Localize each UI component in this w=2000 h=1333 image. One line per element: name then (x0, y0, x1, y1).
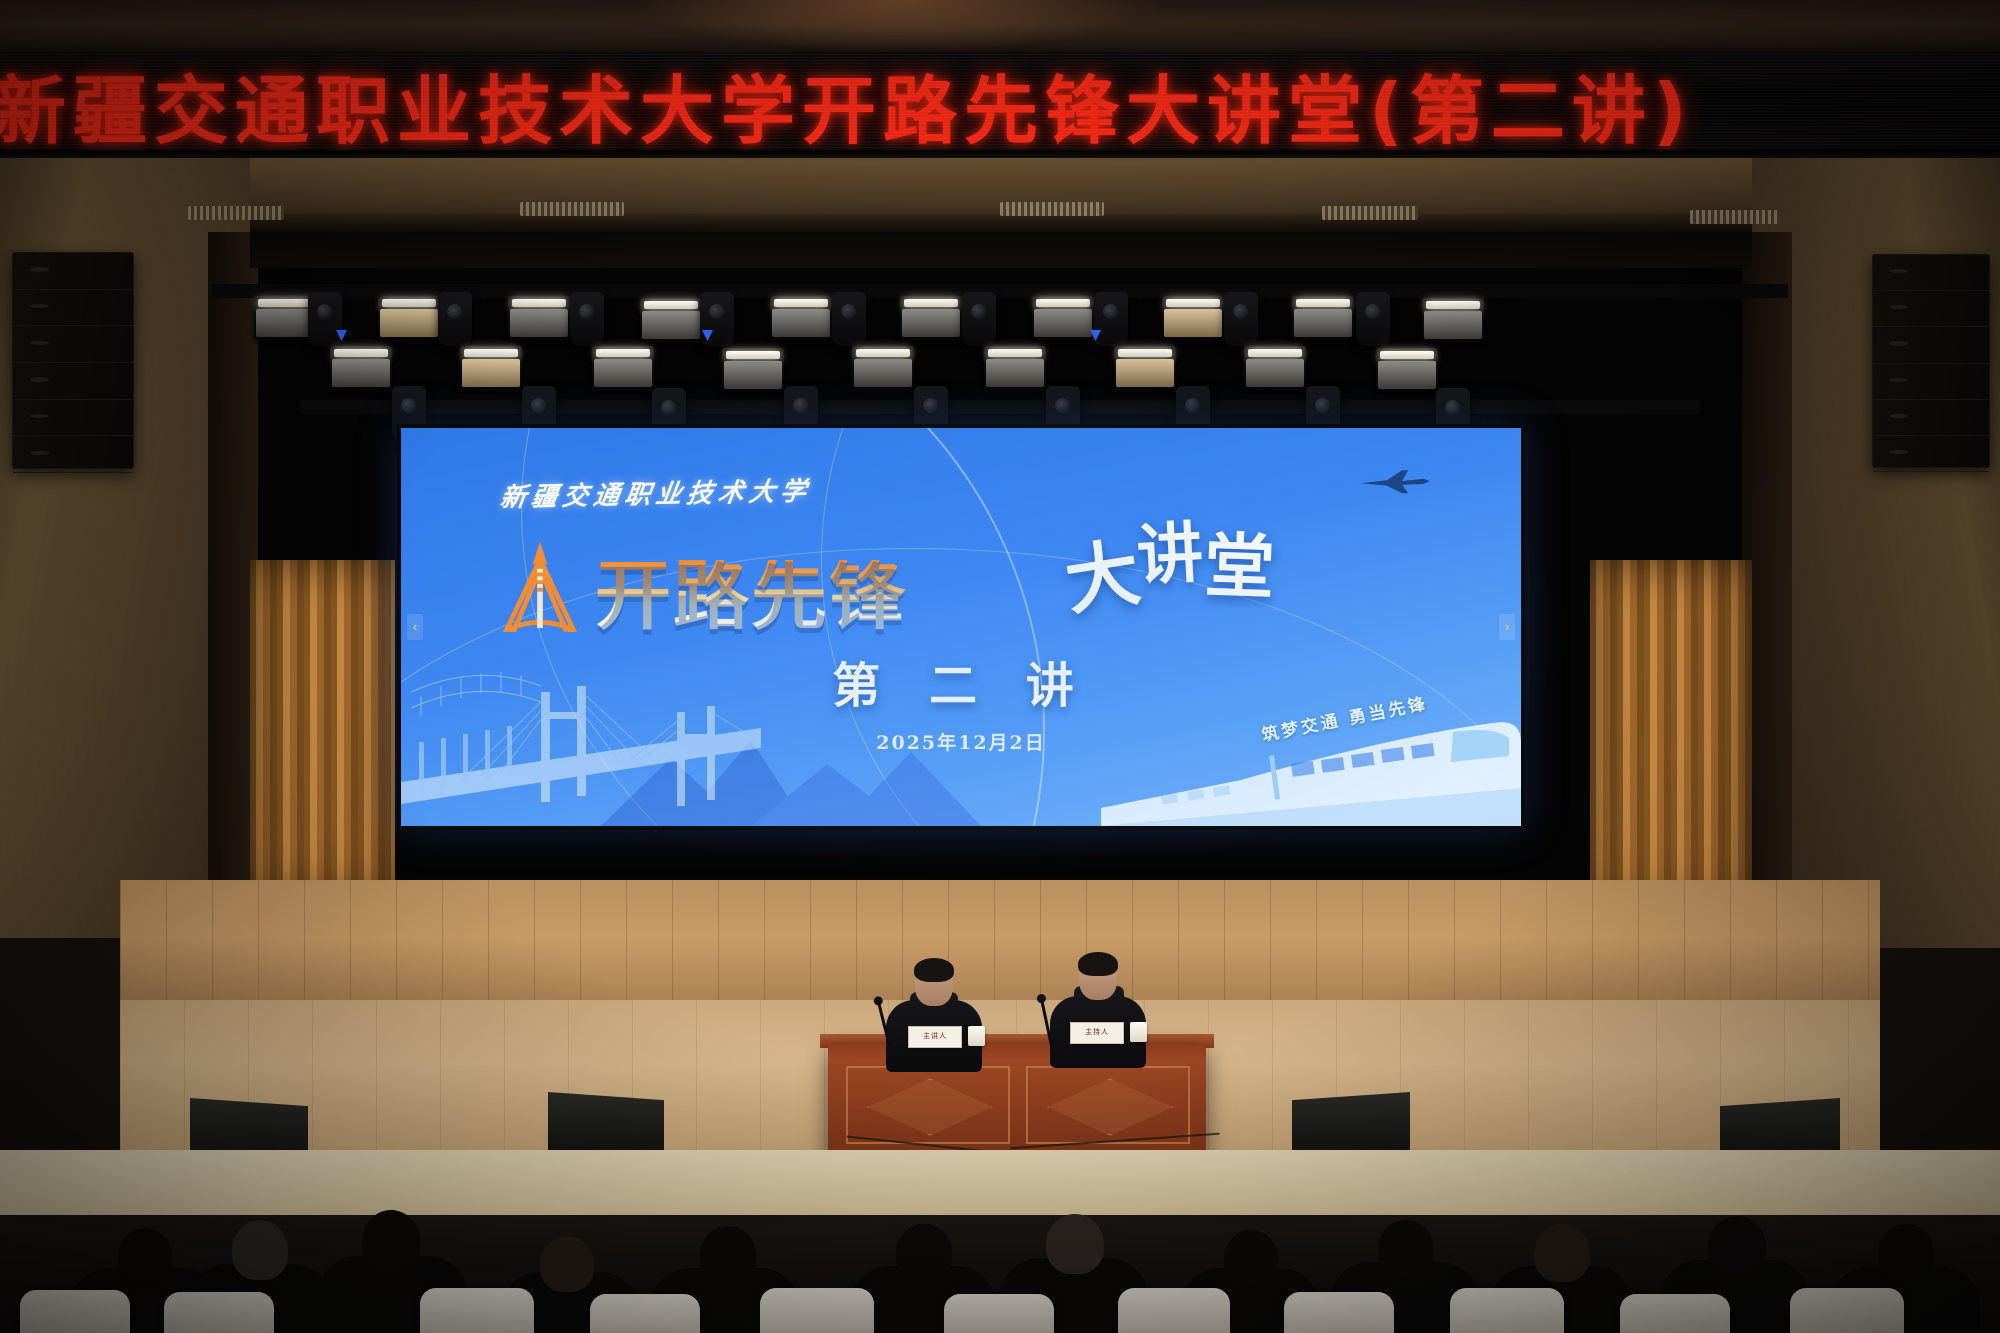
stage-light-l5 (852, 346, 914, 390)
ceiling-vent-far-right (1690, 210, 1780, 224)
stage-monitor-center-left (548, 1092, 664, 1150)
slide-prev-button[interactable]: ‹ (407, 614, 423, 640)
head-table-panel-left (846, 1066, 1010, 1144)
stage-light-l7 (1114, 346, 1176, 390)
theater-seat-5 (760, 1288, 874, 1333)
audience-head-9 (1378, 1220, 1434, 1278)
nameplate-right: 主持人 (1070, 1022, 1124, 1044)
water-cup-right (1130, 1022, 1147, 1042)
theater-seat-2 (164, 1292, 274, 1333)
calligraphy-char-da: 大 (1057, 512, 1149, 630)
stage-light-u4 (640, 298, 702, 342)
moving-head-light-u1 (308, 292, 342, 346)
moving-head-light-u6 (962, 292, 996, 346)
slide-title-row: 开路先锋 (497, 540, 907, 632)
stage-header-masking (250, 232, 1752, 268)
audience-head-6 (896, 1224, 952, 1282)
stage-monitor-center-right (1292, 1092, 1410, 1150)
stage-light-u5 (770, 296, 832, 340)
audience-head-7 (1046, 1214, 1104, 1274)
stage-light-l9 (1376, 348, 1438, 392)
stage-curtain-left (250, 560, 395, 900)
audience-head-10 (1534, 1224, 1590, 1282)
water-cup-left (968, 1026, 985, 1046)
stage-light-l6 (984, 346, 1046, 390)
calligraphy-char-tang: 堂 (1203, 510, 1278, 613)
theater-seat-3 (420, 1288, 534, 1333)
moving-head-light-u8 (1224, 292, 1258, 346)
theater-seat-8 (1284, 1292, 1394, 1333)
head-table-panel-right (1026, 1066, 1190, 1144)
audience-head-2 (232, 1220, 288, 1280)
stage-light-l2 (460, 346, 522, 390)
slide-next-button[interactable]: › (1499, 614, 1515, 640)
calligraphy-char-jiang: 讲 (1134, 499, 1207, 598)
nameplate-right-text: 主持人 (1071, 1023, 1123, 1043)
audience-head-5 (700, 1226, 756, 1284)
audience-head-4 (540, 1236, 594, 1292)
moving-head-light-u3 (570, 292, 604, 346)
ceiling-vent-right (1322, 206, 1418, 220)
high-speed-train-graphic (1101, 676, 1521, 826)
line-array-speaker-left (12, 252, 134, 469)
lecture-hall-scene: 新疆交通职业技术大学开路先锋大讲堂(第二讲) (0, 0, 2000, 1333)
stage-light-u7 (1032, 296, 1094, 340)
moving-head-light-u7 (1094, 292, 1128, 346)
led-banner: 新疆交通职业技术大学开路先锋大讲堂(第二讲) (0, 52, 2000, 157)
stage-light-u8 (1162, 296, 1224, 340)
road-perspective-logo-icon (497, 540, 583, 632)
theater-seat-7 (1118, 1288, 1230, 1333)
led-banner-text: 新疆交通职业技术大学开路先锋大讲堂(第二讲) (0, 52, 1694, 157)
theater-seat-11 (1790, 1288, 1904, 1333)
stage-light-u9 (1292, 296, 1354, 340)
slide-surface: 新疆交通职业技术大学 开路先锋 大讲堂 (401, 428, 1521, 826)
slide-subtitle: 第 二 讲 (832, 646, 1089, 716)
moving-head-light-u9 (1356, 292, 1390, 346)
moving-head-light-u4 (700, 292, 734, 346)
head-table (828, 1044, 1206, 1162)
nameplate-left-text: 主讲人 (909, 1027, 961, 1047)
stage-back-wall (120, 880, 1880, 1008)
slide-calligraphy-title: 大讲堂 (1061, 496, 1277, 603)
stage-light-u2 (378, 296, 440, 340)
ceiling-vent-mid-left (520, 202, 624, 216)
audience-head-1 (118, 1228, 172, 1286)
stage-light-u1 (254, 296, 316, 340)
train-graphic-wrap (1101, 676, 1521, 826)
slide-university-name: 新疆交通职业技术大学 (498, 471, 814, 514)
lighting-truss-lower (300, 400, 1700, 414)
line-array-speaker-right (1872, 254, 1990, 468)
audience-head-8 (1224, 1230, 1278, 1286)
stage-light-u6 (900, 296, 962, 340)
speaker-right-hair (1078, 952, 1118, 976)
airplane-icon (1357, 468, 1435, 494)
theater-seat-9 (1450, 1288, 1564, 1333)
stage-light-l8 (1244, 346, 1306, 390)
moving-head-light-u2 (438, 292, 472, 346)
stage-monitor-left (190, 1098, 308, 1156)
stage-light-l4 (722, 348, 784, 392)
audience-head-11 (1708, 1216, 1766, 1276)
stage-monitor-right (1720, 1098, 1840, 1156)
theater-seat-4 (590, 1294, 700, 1333)
stage-curtain-right (1590, 560, 1752, 910)
stage-light-l3 (592, 346, 654, 390)
stage-light-u3 (508, 296, 570, 340)
speaker-left-hair (914, 958, 954, 982)
audience-head-12 (1878, 1224, 1934, 1282)
theater-seat-6 (944, 1294, 1054, 1333)
ceiling-vent-mid-right (1000, 202, 1104, 216)
led-presentation-screen[interactable]: 新疆交通职业技术大学 开路先锋 大讲堂 (397, 424, 1525, 830)
stage-light-u10 (1422, 298, 1484, 342)
ceiling-vent-left (188, 206, 284, 220)
audience-head-3 (362, 1210, 420, 1272)
slide-main-title: 开路先锋 (595, 560, 907, 632)
nameplate-left: 主讲人 (908, 1026, 962, 1048)
moving-head-light-u5 (832, 292, 866, 346)
theater-seat-1 (20, 1290, 130, 1333)
theater-seat-10 (1620, 1294, 1730, 1333)
cable-stayed-bridge-graphic (401, 656, 761, 826)
ceiling-light-glow (640, 0, 1160, 52)
stage-light-l1 (330, 346, 392, 390)
